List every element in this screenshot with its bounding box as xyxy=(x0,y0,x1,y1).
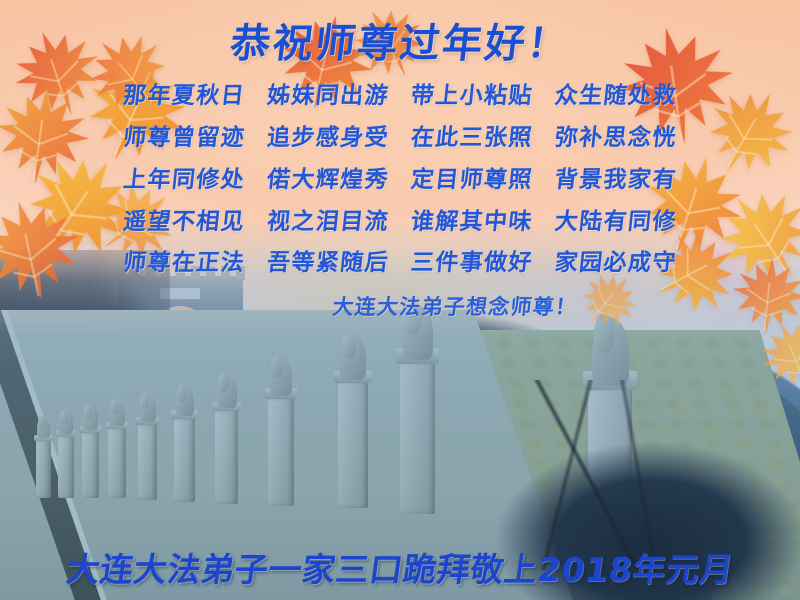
poem-segment: 在此三张照 xyxy=(410,124,535,152)
poem-segment: 谁解其中味 xyxy=(410,208,535,236)
poem-segment: 那年夏秋日 xyxy=(122,82,247,110)
poem-line-5: 师尊在正法吾等紧随后三件事做好家园必成守 xyxy=(0,249,800,277)
poem-segment: 弥补思念恍 xyxy=(553,124,678,152)
poem-line-1: 那年夏秋日姊妹同出游带上小粘贴众生随处救 xyxy=(0,82,800,110)
poem-segment: 带上小粘贴 xyxy=(410,82,535,110)
poem-segment: 众生随处救 xyxy=(553,82,678,110)
poem-segment: 师尊在正法 xyxy=(122,249,247,277)
poem-segment: 师尊曾留迹 xyxy=(122,124,247,152)
poem-segment: 大陆有同修 xyxy=(553,208,678,236)
greeting-card: 恭祝师尊过年好！ 那年夏秋日姊妹同出游带上小粘贴众生随处救 师尊曾留迹追步感身受… xyxy=(0,0,800,600)
poem-segment: 吾等紧随后 xyxy=(266,249,391,277)
poem-segment: 上年同修处 xyxy=(122,166,247,194)
poem-segment: 遥望不相见 xyxy=(122,208,247,236)
poem-line-2: 师尊曾留迹追步感身受在此三张照弥补思念恍 xyxy=(0,124,800,152)
poem-segment: 定目师尊照 xyxy=(410,166,535,194)
signature-line: 大连大法弟子想念师尊！ xyxy=(0,294,800,320)
footer-dedication: 大连大法弟子一家三口跪拜敬上2018年元月 xyxy=(0,550,800,590)
poem-line-4: 遥望不相见视之泪目流谁解其中味大陆有同修 xyxy=(0,208,800,236)
poem-segment: 家园必成守 xyxy=(553,249,678,277)
poem-segment: 三件事做好 xyxy=(410,249,535,277)
card-title: 恭祝师尊过年好！ xyxy=(0,20,800,68)
poem-segment: 追步感身受 xyxy=(266,124,391,152)
poem-line-3: 上年同修处偌大辉煌秀定目师尊照背景我家有 xyxy=(0,166,800,194)
poem-segment: 视之泪目流 xyxy=(266,208,391,236)
poem-segment: 姊妹同出游 xyxy=(266,82,391,110)
poem-segment: 偌大辉煌秀 xyxy=(266,166,391,194)
poem-segment: 背景我家有 xyxy=(553,166,678,194)
